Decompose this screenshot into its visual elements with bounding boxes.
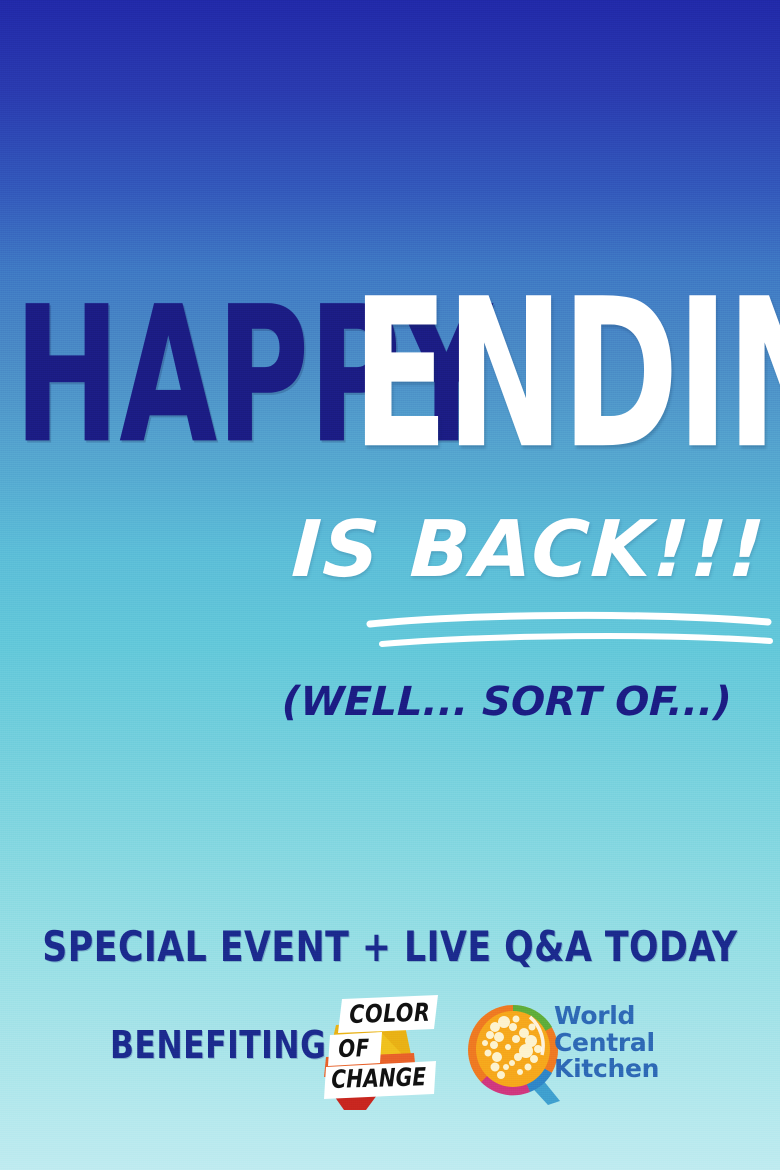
tagline-is-back: IS BACK!!! bbox=[289, 505, 768, 595]
underline-strokes bbox=[360, 608, 775, 654]
wck-line-central: Central bbox=[554, 1030, 659, 1057]
coc-text-change: CHANGE bbox=[331, 1062, 427, 1094]
movie-poster: HAPPY ENDINGS IS BACK!!! (WELL... SORT O… bbox=[0, 0, 780, 1170]
wck-line-kitchen: Kitchen bbox=[554, 1056, 659, 1083]
sponsor-logo-color-of-change[interactable]: COLOR OF CHANGE bbox=[318, 995, 440, 1110]
special-event-line: SPECIAL EVENT + LIVE Q&A TODAY bbox=[31, 922, 749, 971]
coc-text-of: OF bbox=[338, 1034, 370, 1063]
sponsor-logo-world-central-kitchen[interactable]: World Central Kitchen bbox=[468, 997, 668, 1107]
world-central-kitchen-wordmark: World Central Kitchen bbox=[554, 1003, 659, 1083]
poster-title: HAPPY ENDINGS bbox=[0, 268, 780, 478]
benefiting-row: BENEFITING COLOR OF CHANGE bbox=[0, 995, 780, 1110]
title-word-endings: ENDINGS bbox=[352, 272, 780, 478]
tagline-underline bbox=[360, 608, 775, 654]
coc-text-color: COLOR bbox=[349, 998, 431, 1029]
tagline-parenthetical: (WELL... SORT OF...) bbox=[282, 679, 733, 725]
benefiting-label: BENEFITING bbox=[110, 1023, 326, 1067]
wck-line-world: World bbox=[554, 1003, 659, 1030]
world-central-kitchen-pan-icon bbox=[468, 997, 564, 1105]
